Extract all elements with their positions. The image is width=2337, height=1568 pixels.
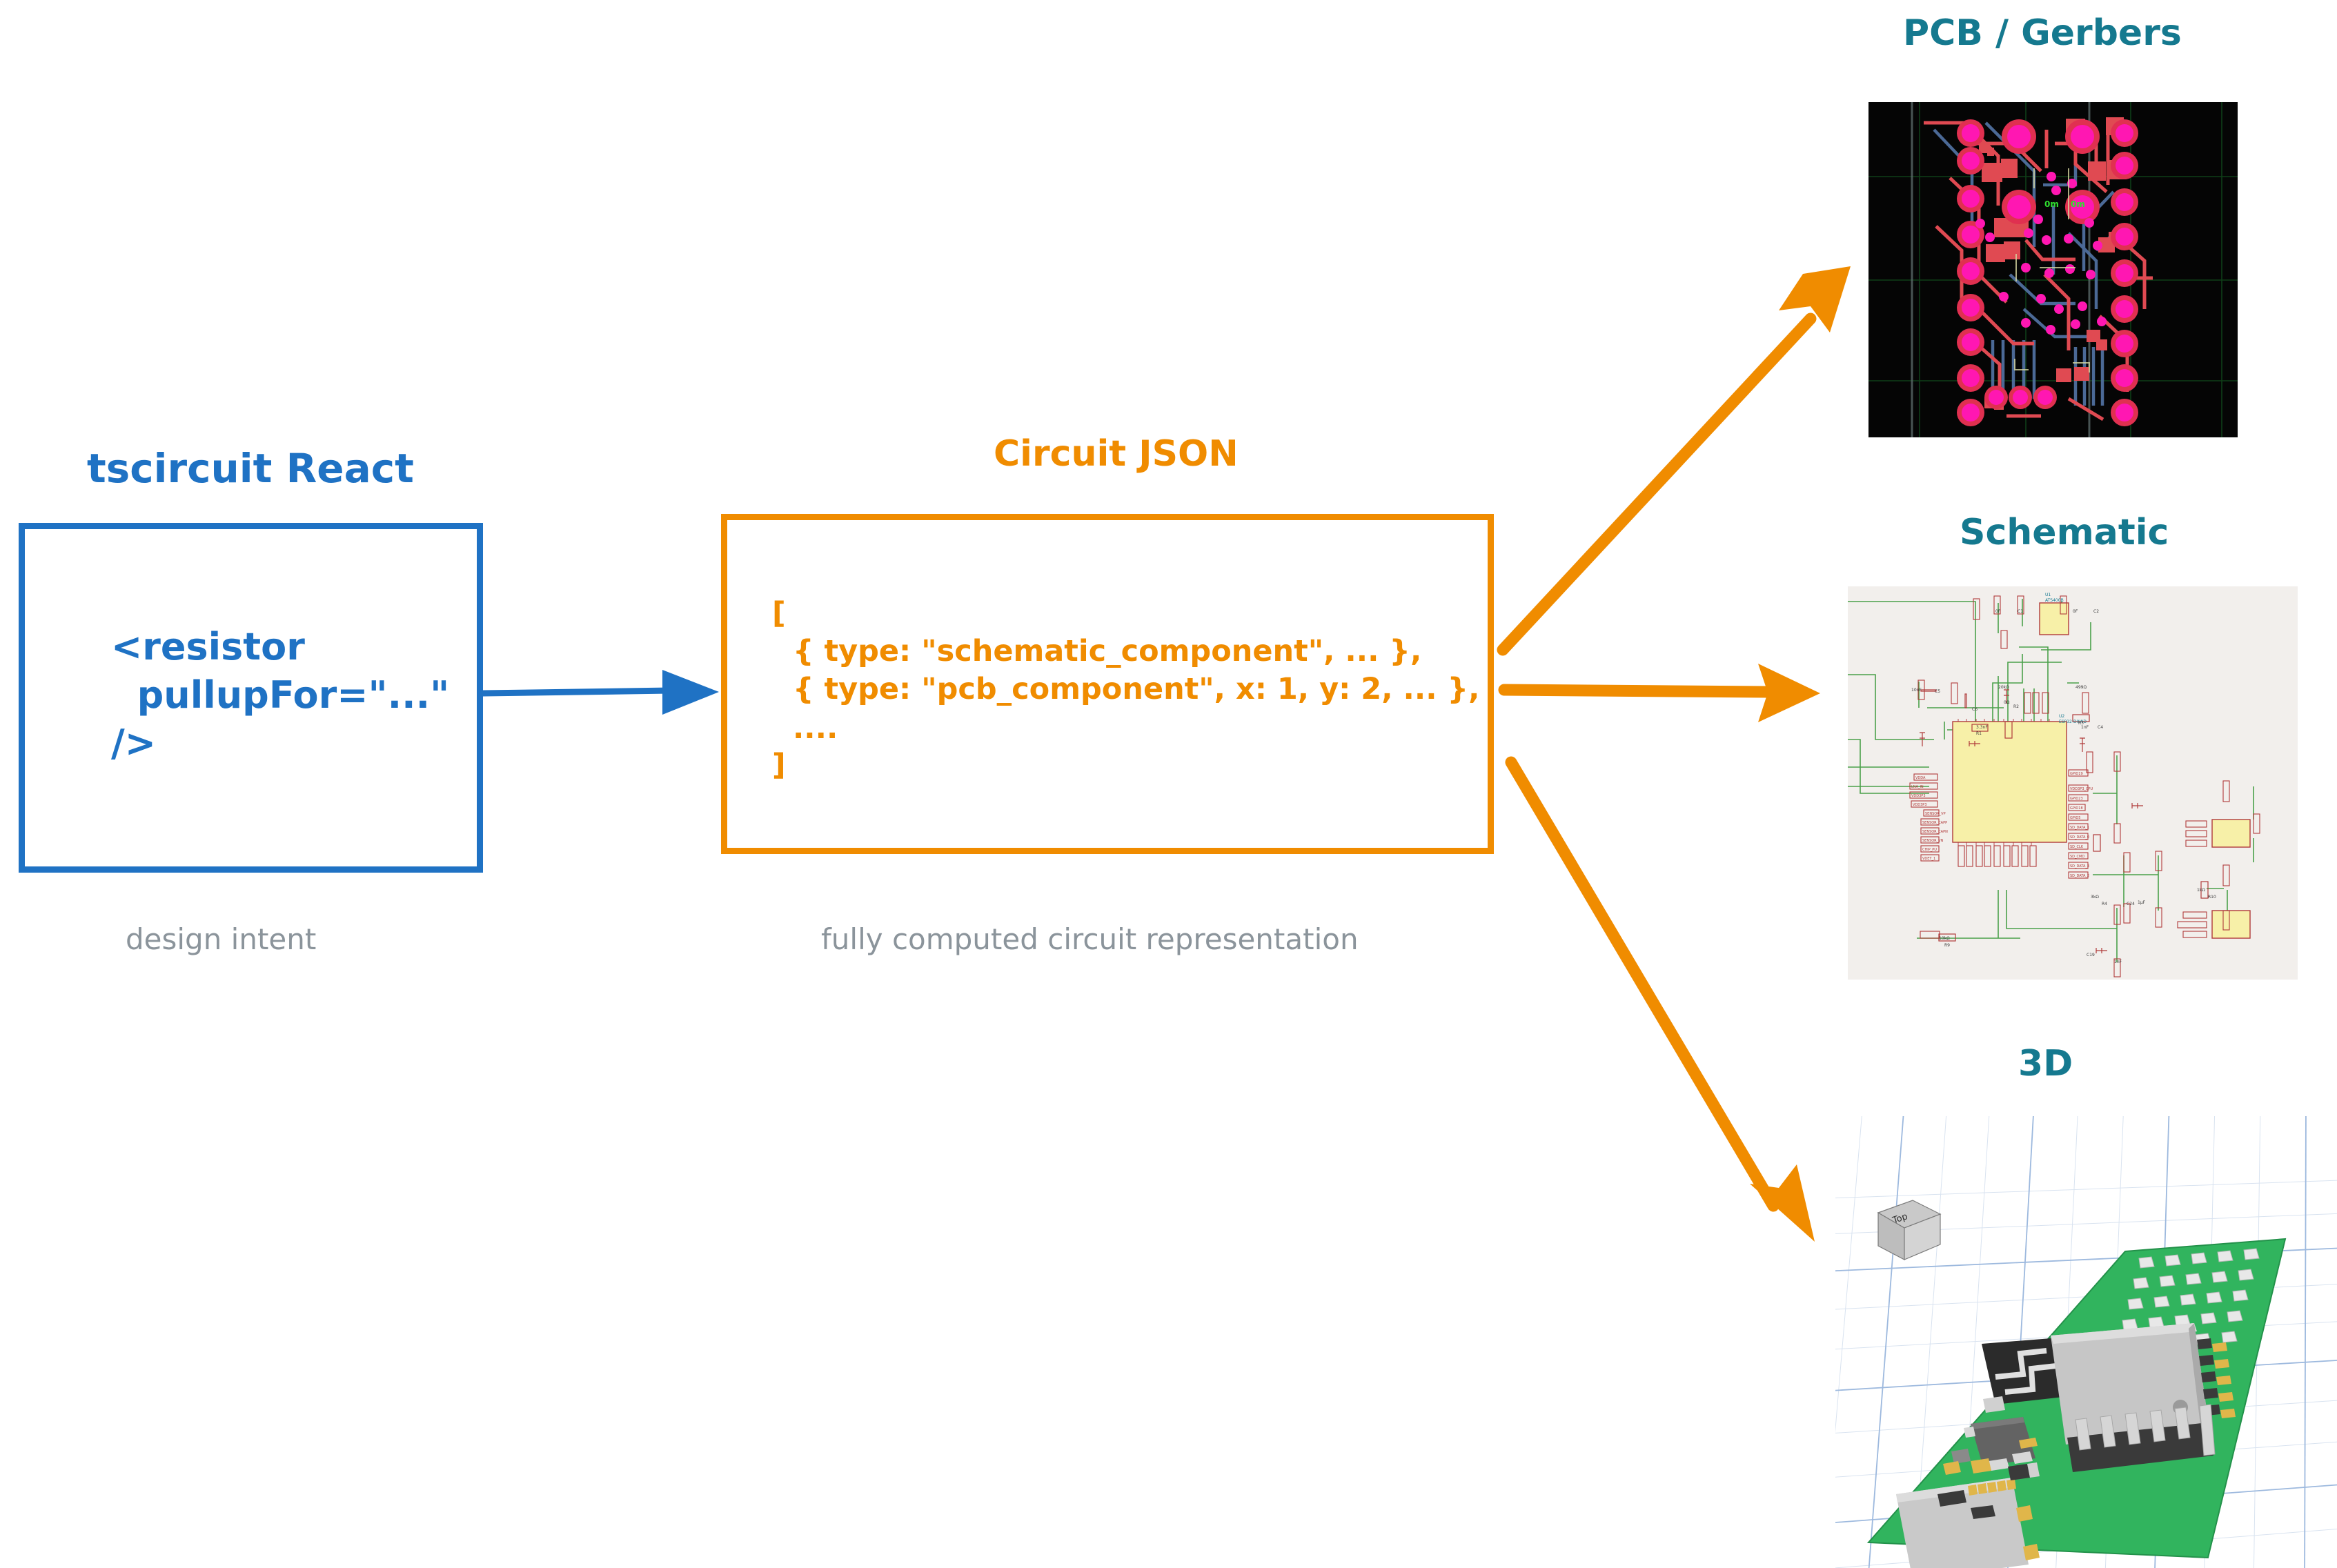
schematic-value-499: 499Ω <box>2075 685 2087 690</box>
svg-text:GPIO23: GPIO23 <box>2070 797 2083 801</box>
svg-text:SD_DATA_1: SD_DATA_1 <box>2070 826 2089 830</box>
arrow-json-to-schematic <box>1504 664 1820 722</box>
svg-text:VDET_1: VDET_1 <box>1922 857 1935 861</box>
schematic-refdes-r2: R2 <box>2013 704 2019 709</box>
svg-text:GPIO5: GPIO5 <box>2070 816 2080 820</box>
svg-text:VDDA: VDDA <box>1915 776 1926 780</box>
schematic-refdes-u2: U2 <box>2059 714 2064 719</box>
svg-text:SD_DATA_3: SD_DATA_3 <box>2070 864 2089 869</box>
schematic-refdes-r1: R1 <box>1976 731 1982 736</box>
schematic-refdes-c1: C1 <box>2018 609 2023 614</box>
schematic-part-ats400b: ATS400B <box>2045 598 2064 603</box>
schematic-value-10k: 10kΩ <box>1939 936 1950 941</box>
schematic-value-3k: 3kΩ <box>2091 895 2099 900</box>
svg-text:SD_CLK: SD_CLK <box>2070 845 2084 849</box>
pcb-net-label-0: 0m <box>2044 199 2059 209</box>
svg-text:SENSOR_CAPP: SENSOR_CAPP <box>1922 821 1947 825</box>
svg-text:SD_CMD: SD_CMD <box>2070 855 2084 859</box>
schematic-value-0r: 0Ω <box>2004 700 2010 705</box>
svg-text:GPIO18: GPIO18 <box>2070 806 2083 811</box>
schematic-refdes-u1: U1 <box>2045 593 2051 597</box>
arrow-json-to-3d <box>1511 762 1815 1242</box>
svg-text:VDD3P3: VDD3P3 <box>1911 794 1926 798</box>
schematic-refdes-r4: R4 <box>2102 902 2107 906</box>
schematic-value-0f-a: 0F <box>1995 609 2001 614</box>
schematic-value-20k: 20kΩ <box>1998 685 2009 690</box>
three-d-thumbnail: Top <box>1835 1116 2337 1568</box>
three-d-render-svg: Top <box>1835 1116 2337 1568</box>
schematic-refdes-c6: C6 <box>1972 707 1978 712</box>
schematic-value-1nf-b: 1nF <box>2114 960 2122 964</box>
schematic-render-svg: VDDALNA_IN VDD3P3VDD3P3 SENSOR_VPSENSOR_… <box>1848 586 2298 980</box>
pcb-net-label-1: 0m <box>2071 199 2085 209</box>
arrow-json-to-pcb <box>1503 266 1851 650</box>
svg-text:LNA_IN: LNA_IN <box>1911 785 1924 789</box>
schematic-value-1nf: 1nF <box>2081 725 2089 730</box>
diagram-canvas: tscircuit React <resistor pullupFor="...… <box>0 0 2337 1568</box>
schematic-value-1k: 1kΩ <box>2197 888 2205 893</box>
svg-text:GPIO19: GPIO19 <box>2070 772 2083 776</box>
schematic-value-3n3: 3.3nF <box>1976 725 1988 730</box>
schematic-refdes-c24: C24 <box>2127 902 2135 906</box>
schematic-refdes-r10: R10 <box>2208 895 2216 900</box>
schematic-refdes-c19: C19 <box>2087 953 2095 957</box>
pcb-render-svg: 0m 0m <box>1868 102 2238 437</box>
output-label-schematic: Schematic <box>1960 512 2169 553</box>
svg-text:VDD3P3_CPU: VDD3P3_CPU <box>2070 787 2093 791</box>
pcb-thumbnail: 0m 0m <box>1868 102 2238 437</box>
schematic-refdes-r9: R9 <box>1944 943 1950 948</box>
svg-text:SENSOR_CAPN: SENSOR_CAPN <box>1922 830 1948 834</box>
arrow-react-to-json <box>483 670 719 715</box>
output-label-3d: 3D <box>2018 1043 2073 1084</box>
svg-text:VDD3P3: VDD3P3 <box>1913 803 1927 807</box>
schematic-value-1uf: 1µF <box>2138 900 2146 905</box>
svg-text:SD_DATA_2: SD_DATA_2 <box>2070 874 2089 878</box>
schematic-value-10nf: 10nF <box>1911 688 1922 693</box>
svg-text:SENSOR_VN: SENSOR_VN <box>1922 839 1944 843</box>
svg-text:SD_DATA_0: SD_DATA_0 <box>2070 835 2089 840</box>
schematic-thumbnail: VDDALNA_IN VDD3P3VDD3P3 SENSOR_VPSENSOR_… <box>1848 586 2298 980</box>
schematic-refdes-c2: C2 <box>2093 609 2099 614</box>
schematic-value-0f-b: 0F <box>2073 609 2078 614</box>
svg-text:CHIP_PU: CHIP_PU <box>1922 848 1937 852</box>
svg-text:SENSOR_VP: SENSOR_VP <box>1925 812 1946 816</box>
schematic-refdes-c5: C5 <box>1935 689 1940 694</box>
schematic-refdes-c4: C4 <box>2098 725 2103 730</box>
output-label-pcb: PCB / Gerbers <box>1903 12 2182 54</box>
